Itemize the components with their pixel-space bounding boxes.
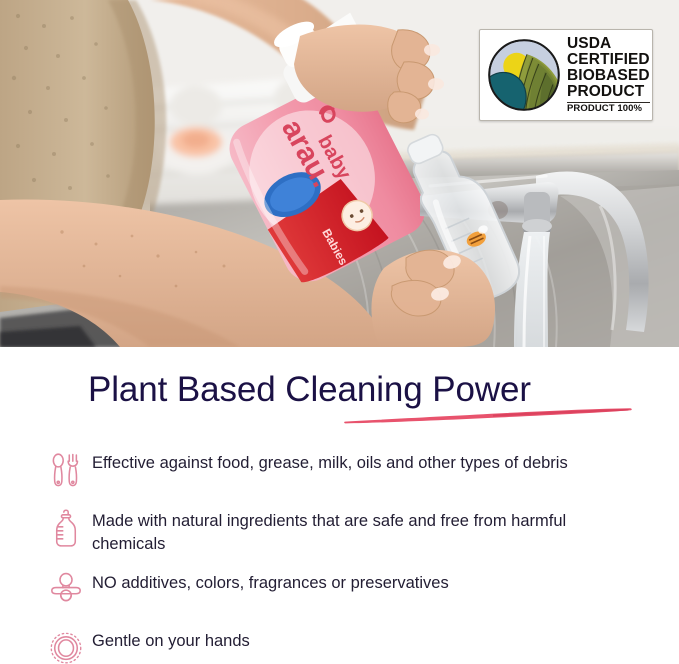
- list-item-label: Gentle on your hands: [92, 628, 597, 653]
- list-item-label: Effective against food, grease, milk, oi…: [92, 450, 592, 475]
- headline-block: Plant Based Cleaning Power: [88, 370, 648, 409]
- list-item: NO additives, colors, fragrances or pres…: [44, 570, 644, 614]
- list-item-label: NO additives, colors, fragrances or pres…: [92, 570, 597, 595]
- feature-content: Plant Based Cleaning Power: [0, 347, 679, 664]
- pacifier-icon: [44, 570, 88, 614]
- usda-line-1: USDA: [567, 36, 650, 52]
- baby-bottle-icon: [44, 508, 88, 552]
- usda-badge-text: USDA CERTIFIED BIOBASED PRODUCT PRODUCT …: [567, 36, 650, 113]
- hero-photo: arau. baby Babies: [0, 0, 679, 347]
- usda-line-2: CERTIFIED: [567, 52, 650, 68]
- list-item: Effective against food, grease, milk, oi…: [44, 450, 644, 494]
- product-feature-card: arau. baby Babies: [0, 0, 679, 664]
- usda-product-percent: PRODUCT 100%: [567, 104, 650, 114]
- feature-bullet-list: Effective against food, grease, milk, oi…: [44, 450, 644, 664]
- lotion-circle-icon: [44, 628, 88, 664]
- usda-line-4: PRODUCT: [567, 84, 650, 100]
- usda-biobased-badge: USDA CERTIFIED BIOBASED PRODUCT PRODUCT …: [479, 29, 653, 121]
- usda-biobased-seal-icon: [487, 38, 561, 112]
- list-item-label: Made with natural ingredients that are s…: [92, 508, 602, 556]
- headline-underline-swoosh: [343, 407, 633, 424]
- list-item: Gentle on your hands: [44, 628, 644, 664]
- list-item: Made with natural ingredients that are s…: [44, 508, 644, 556]
- spoon-and-fork-icon: [44, 450, 88, 494]
- usda-line-3: BIOBASED: [567, 68, 650, 84]
- page-title: Plant Based Cleaning Power: [88, 370, 648, 409]
